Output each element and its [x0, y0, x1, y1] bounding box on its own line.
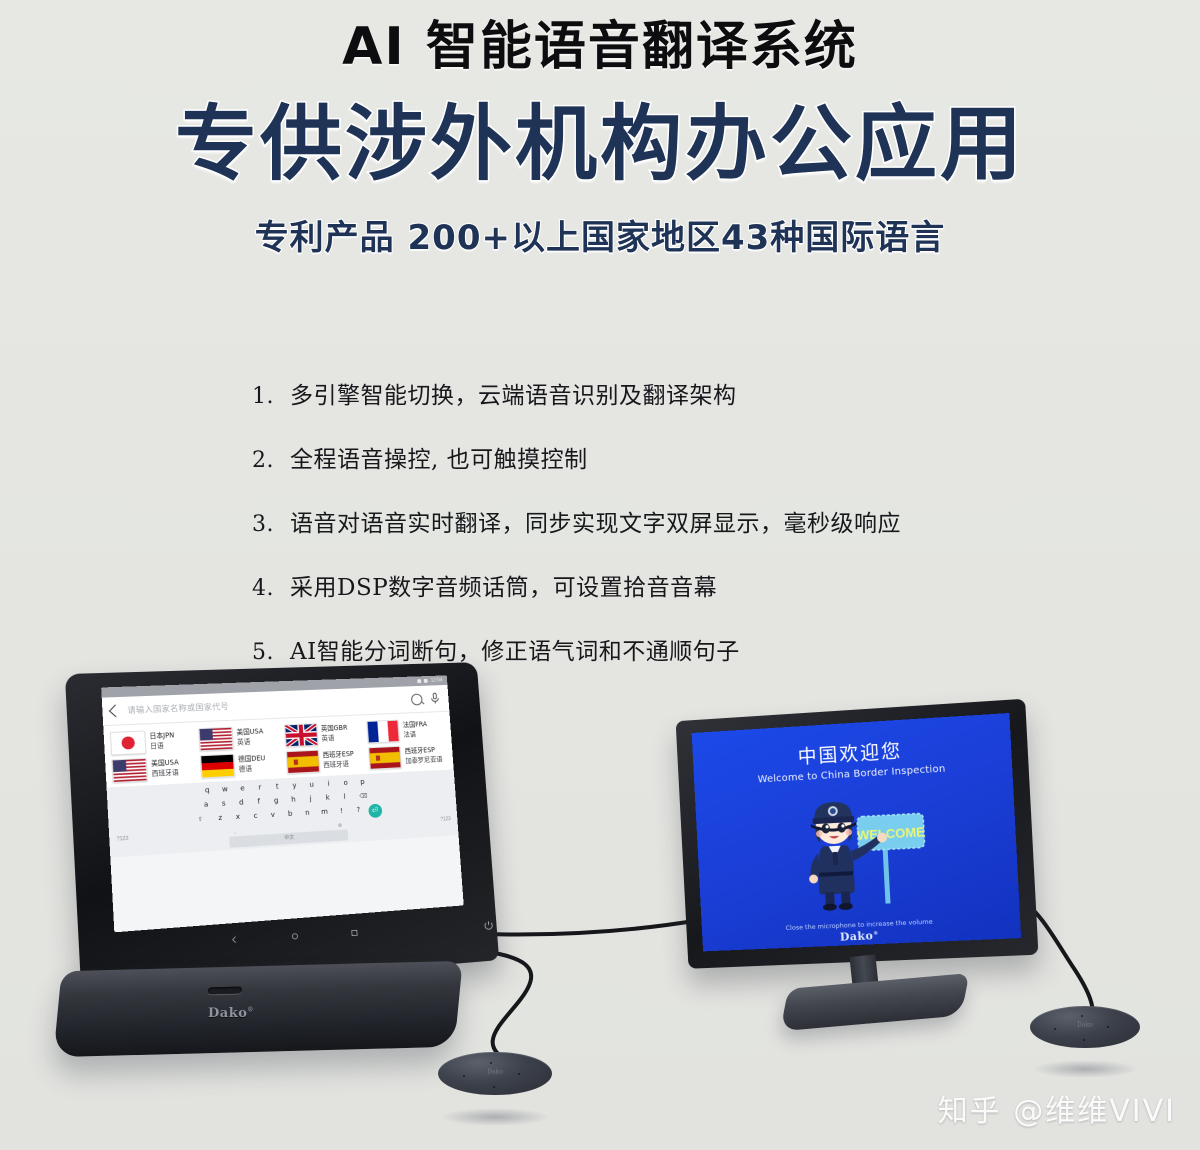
language-item[interactable]: 日本JPN日语	[110, 728, 196, 755]
key-shift[interactable]: ⇧	[191, 813, 211, 828]
language-item[interactable]: 美国USA英语	[198, 725, 282, 752]
key-o[interactable]: o	[338, 778, 353, 790]
puck-brand-logo: Dako	[487, 1068, 503, 1075]
monitor-screen: 中国欢迎您 Welcome to China Border Inspection…	[692, 713, 1022, 951]
language-label: 德国DEU德语	[238, 754, 266, 774]
language-label: 法国FRA法语	[403, 720, 429, 740]
list-item: 1. 多引擎智能切换，云端语音识别及翻译架构	[252, 382, 1032, 412]
microphone-puck-right[interactable]: Dako	[1030, 1006, 1140, 1074]
product-scene: 12:04 请输入国家名称或国家代号	[0, 648, 1200, 1150]
key-x[interactable]: x	[230, 811, 246, 826]
language-label: 西班牙ESP西班牙语	[322, 750, 354, 770]
home-icon[interactable]	[290, 931, 299, 940]
headline-block: AI 智能语音翻译系统 专供涉外机构办公应用 专利产品 200+以上国家地区43…	[0, 0, 1200, 259]
page-title: AI 智能语音翻译系统	[0, 18, 1200, 76]
key-b[interactable]: b	[282, 808, 298, 823]
flag-es-icon	[285, 750, 320, 774]
key-a[interactable]: a	[198, 799, 214, 811]
key-v[interactable]: v	[265, 809, 281, 824]
power-icon[interactable]	[483, 920, 494, 932]
tablet-device: 12:04 请输入国家名称或国家代号	[70, 655, 507, 988]
puck-brand-logo: Dako	[1077, 1022, 1093, 1029]
key-r[interactable]: r	[252, 782, 268, 794]
list-item: 4. 采用DSP数字音频话筒，可设置拾音音幕	[252, 574, 1032, 604]
tablet-screen: 12:04 请输入国家名称或国家代号	[101, 675, 464, 932]
key-t[interactable]: t	[270, 781, 286, 793]
mic-hole	[1054, 1028, 1056, 1030]
microphone-puck-left[interactable]: Dako	[438, 1052, 552, 1122]
status-time: 12:04	[431, 677, 443, 683]
list-item-label: 全程语音操控, 也可触摸控制	[290, 446, 1032, 476]
language-item[interactable]: 美国USA西班牙语	[111, 755, 198, 783]
welcome-title-cn: 中国欢迎您	[797, 736, 903, 769]
list-item-label: 采用DSP数字音频话筒，可设置拾音音幕	[290, 574, 1032, 604]
language-item[interactable]: 德国DEU德语	[200, 751, 284, 778]
hero-title: 专供涉外机构办公应用	[0, 102, 1200, 188]
key-q[interactable]: q	[199, 785, 215, 797]
key-j[interactable]: j	[303, 793, 318, 805]
key-m[interactable]: m	[317, 806, 333, 821]
search-icon[interactable]	[411, 693, 423, 705]
key-u[interactable]: u	[304, 779, 319, 791]
recents-icon[interactable]	[349, 928, 358, 937]
flag-es-icon	[368, 746, 402, 770]
list-item-number: 3.	[252, 512, 290, 537]
signal-icon	[418, 679, 422, 683]
language-label: 美国USA西班牙语	[151, 758, 180, 779]
mic-hole	[1083, 1039, 1085, 1041]
dock-brand-logo: Dako®	[208, 1006, 254, 1021]
key-d[interactable]: d	[234, 797, 250, 809]
mic-hole	[518, 1073, 520, 1075]
key-h[interactable]: h	[286, 794, 301, 806]
key-s[interactable]: s	[216, 798, 232, 810]
microphone-icon[interactable]	[428, 692, 441, 705]
language-item[interactable]: 英国GBR英语	[283, 721, 365, 747]
monitor-stand-base	[780, 973, 969, 1031]
key-exclaim[interactable]: !	[334, 805, 349, 820]
puck-top-surface[interactable]: Dako	[1030, 1006, 1140, 1048]
key-i[interactable]: i	[321, 778, 336, 790]
list-item: 2. 全程语音操控, 也可触摸控制	[252, 446, 1032, 476]
language-label: 日本JPN日语	[149, 731, 175, 751]
flag-jp-icon	[110, 730, 147, 755]
key-backspace[interactable]: ⌫	[354, 790, 373, 802]
border-officer-mascot-icon: WELCOME	[784, 780, 940, 918]
search-input[interactable]: 请输入国家名称或国家代号	[127, 694, 405, 716]
language-item[interactable]: 西班牙ESP加泰罗尼亚语	[368, 744, 448, 770]
key-p[interactable]: p	[355, 777, 370, 789]
key-question[interactable]: ?	[351, 805, 366, 820]
tablet-dock-base	[53, 961, 462, 1057]
key-e[interactable]: e	[235, 783, 251, 795]
key-f[interactable]: f	[251, 796, 267, 808]
key-k[interactable]: k	[320, 792, 335, 804]
list-item-label: 多引擎智能切换，云端语音识别及翻译架构	[290, 382, 1032, 412]
subtitle: 专利产品 200+以上国家地区43种国际语言	[0, 210, 1200, 259]
list-item-number: 2.	[252, 448, 290, 473]
mic-hole	[1081, 1015, 1083, 1017]
key-y[interactable]: y	[287, 780, 302, 792]
key-symbols[interactable]: ?123	[117, 836, 129, 843]
mic-hole	[463, 1075, 465, 1077]
list-item-label: 语音对语音实时翻译，同步实现文字双屏显示，毫秒级响应	[290, 510, 1032, 540]
mic-hole	[490, 1062, 492, 1064]
language-item[interactable]: 法国FRA法语	[366, 718, 445, 744]
monitor-brand-logo: Dako®	[840, 929, 880, 944]
key-g[interactable]: g	[268, 795, 284, 807]
battery-icon	[424, 679, 428, 683]
language-label: 西班牙ESP加泰罗尼亚语	[404, 746, 442, 766]
list-item: 3. 语音对语音实时翻译，同步实现文字双屏显示，毫秒级响应	[252, 510, 1032, 540]
puck-shadow	[440, 1108, 549, 1126]
monitor-device: 中国欢迎您 Welcome to China Border Inspection…	[672, 701, 1037, 971]
key-globe[interactable]: ⊕	[338, 823, 342, 829]
dock-slot	[207, 986, 242, 994]
flag-fr-icon	[366, 720, 400, 744]
mic-hole	[1107, 1026, 1109, 1028]
back-icon[interactable]	[229, 934, 239, 944]
language-item[interactable]: 西班牙ESP西班牙语	[285, 747, 367, 774]
key-enter[interactable]: ⏎	[368, 804, 382, 819]
back-chevron-icon[interactable]	[109, 704, 122, 717]
puck-shadow	[1032, 1060, 1138, 1078]
key-c[interactable]: c	[248, 810, 264, 825]
mic-hole	[493, 1086, 495, 1088]
poster-root: AI 智能语音翻译系统 专供涉外机构办公应用 专利产品 200+以上国家地区43…	[0, 0, 1200, 1150]
flag-us-icon	[111, 758, 148, 783]
key-symbols-right[interactable]: ?123	[440, 816, 451, 822]
key-comma[interactable]: ,	[234, 829, 236, 835]
flag-gb-icon	[283, 723, 318, 747]
key-w[interactable]: w	[217, 784, 233, 796]
language-label: 美国USA英语	[236, 727, 264, 747]
language-label: 英国GBR英语	[321, 724, 349, 744]
list-item-number: 1.	[252, 384, 290, 409]
flag-de-icon	[200, 754, 236, 779]
watermark: 知乎 @维维VIVI	[938, 1086, 1176, 1130]
flag-us-icon	[198, 727, 234, 752]
puck-top-surface[interactable]: Dako	[438, 1052, 552, 1095]
list-item-number: 4.	[252, 576, 290, 601]
key-n[interactable]: n	[300, 807, 316, 822]
key-l[interactable]: l	[337, 791, 352, 803]
key-z[interactable]: z	[212, 812, 228, 827]
